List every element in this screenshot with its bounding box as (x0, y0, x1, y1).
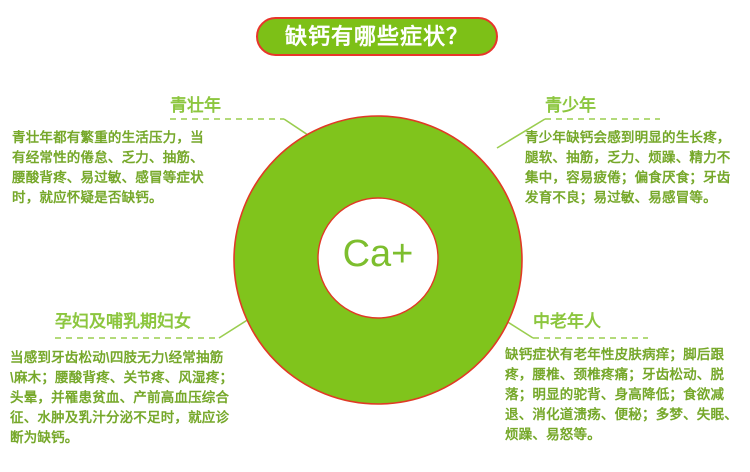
section-body-pregnant-women: 当感到牙齿松动\四肢无力\经常抽筋\麻木；腰酸背疼、关节疼、风湿疼；头晕，并罹患… (10, 348, 238, 448)
section-body-elderly: 缺钙症状有老年性皮肤病痒；脚后跟疼，腰椎、颈椎疼痛；牙齿松动、脱落；明显的驼背、… (505, 345, 739, 445)
section-heading-elderly: 中老年人 (533, 313, 601, 330)
calcium-deficiency-infographic: 缺钙有哪些症状？ Ca+ 青壮年 青少年 孕妇及哺乳期妇女 中老 (0, 0, 750, 472)
section-body-young-adults: 青壮年都有繁重的生活压力，当有经常性的倦怠、乏力、抽筋、腰酸背疼、易过敏、感冒等… (12, 128, 208, 208)
section-heading-young-adults: 青壮年 (170, 97, 221, 114)
section-body-teens: 青少年缺钙会感到明显的生长疼，腿软、抽筋，乏力、烦躁、精力不集中，容易疲倦；偏食… (525, 128, 737, 208)
infographic-title-pill: 缺钙有哪些症状？ (256, 17, 498, 56)
center-label-ca-plus: Ca+ (318, 232, 438, 276)
page-title: 缺钙有哪些症状？ (285, 26, 469, 48)
section-heading-pregnant-women: 孕妇及哺乳期妇女 (55, 313, 191, 330)
section-heading-teens: 青少年 (545, 97, 596, 114)
